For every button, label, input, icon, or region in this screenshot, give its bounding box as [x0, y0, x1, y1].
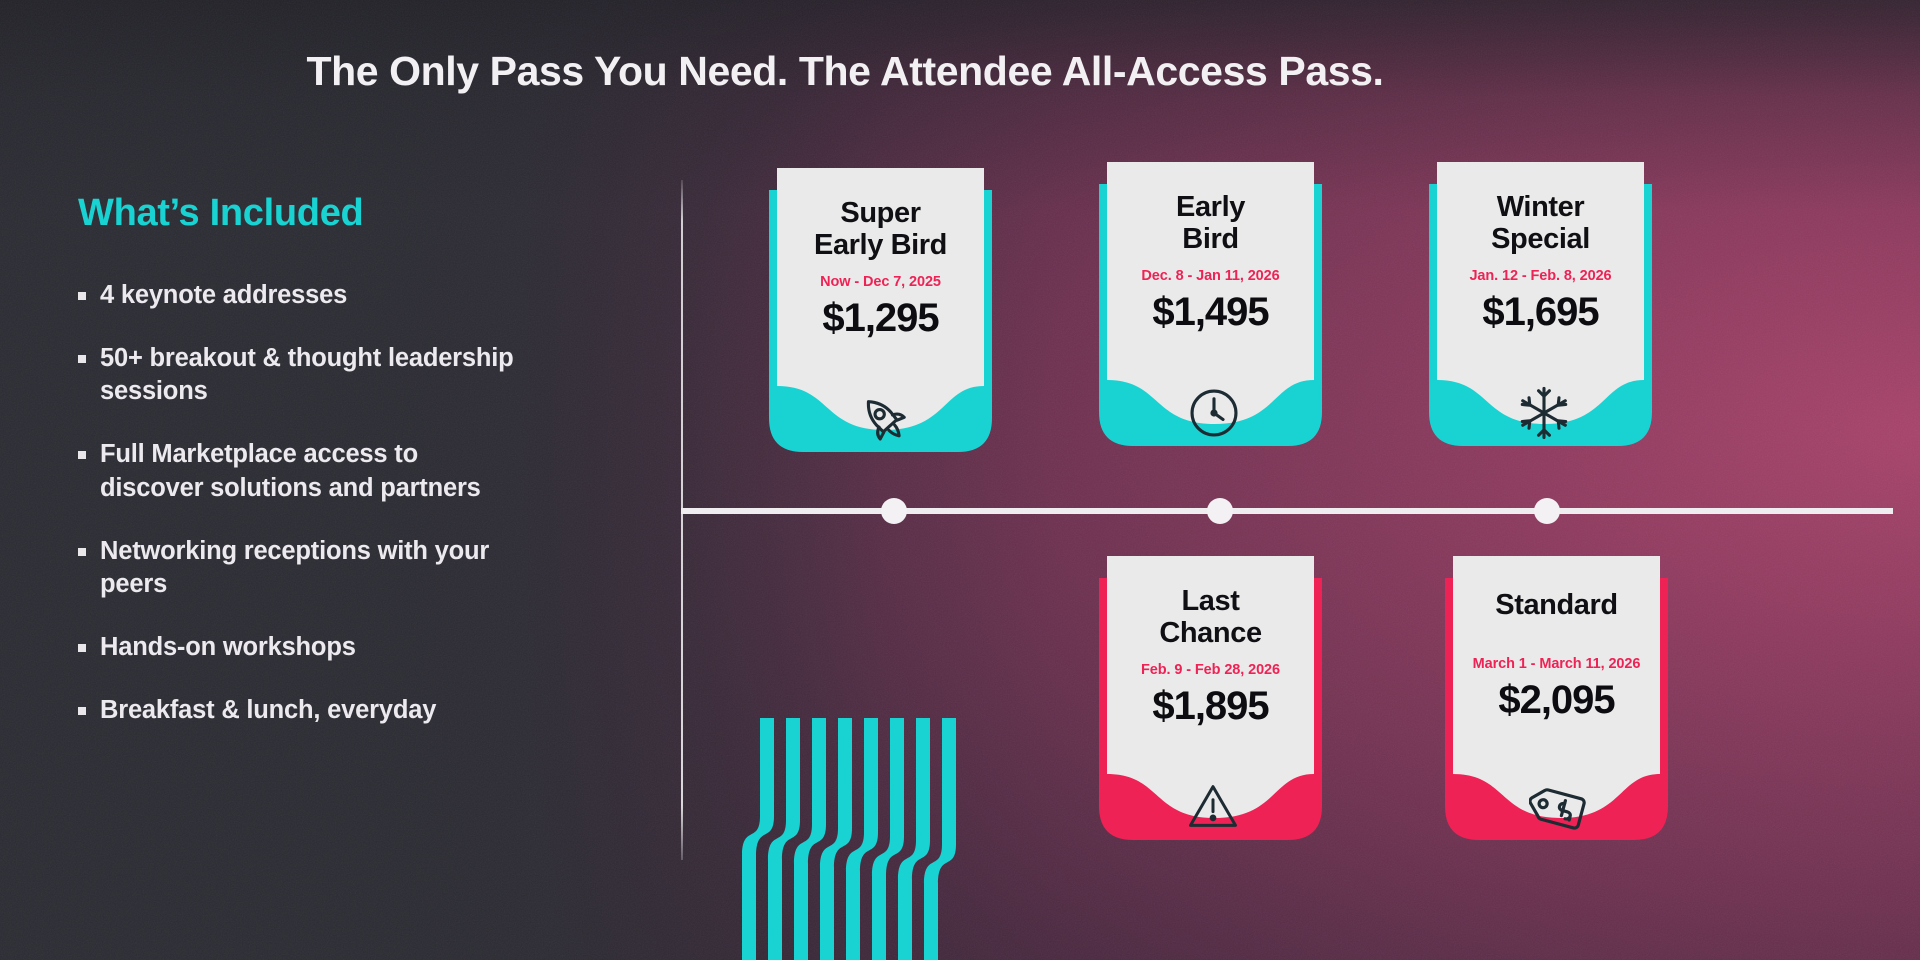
price-tag-icon [1529, 776, 1593, 845]
decorative-stripes [742, 718, 982, 960]
tier-dates: Feb. 9 - Feb 28, 2026 [1141, 662, 1280, 678]
feature-item: Breakfast & lunch, everyday [78, 694, 578, 727]
tier-price: $1,695 [1482, 290, 1598, 335]
bullet-icon [78, 707, 86, 715]
feature-list: 4 keynote addresses50+ breakout & though… [78, 279, 578, 727]
timeline-axis [681, 508, 1893, 514]
bullet-icon [78, 355, 86, 363]
pricing-card[interactable]: Winter SpecialJan. 12 - Feb. 8, 2026$1,6… [1429, 162, 1652, 445]
feature-label: Breakfast & lunch, everyday [100, 694, 436, 727]
bullet-icon [78, 548, 86, 556]
tier-dates: March 1 - March 11, 2026 [1473, 656, 1641, 672]
timeline-dot [1534, 498, 1560, 524]
tier-price: $1,895 [1152, 684, 1268, 729]
feature-label: 4 keynote addresses [100, 279, 347, 312]
feature-item: 4 keynote addresses [78, 279, 578, 312]
whats-included-panel: What’s Included 4 keynote addresses50+ b… [78, 192, 578, 757]
feature-label: 50+ breakout & thought leadership sessio… [100, 342, 520, 408]
tier-name: Last Chance [1159, 586, 1261, 650]
warning-triangle-icon [1183, 776, 1243, 841]
bullet-icon [78, 644, 86, 652]
pricing-card[interactable]: Early BirdDec. 8 - Jan 11, 2026$1,495 [1099, 162, 1322, 445]
pricing-card[interactable]: Super Early BirdNow - Dec 7, 2025$1,295 [769, 168, 992, 451]
feature-label: Hands-on workshops [100, 631, 356, 664]
feature-item: Networking receptions with your peers [78, 535, 578, 601]
tier-name: Super Early Bird [814, 198, 947, 262]
bullet-icon [78, 292, 86, 300]
rocket-icon [853, 388, 915, 455]
feature-item: Hands-on workshops [78, 631, 578, 664]
pricing-card[interactable]: StandardMarch 1 - March 11, 2026$2,095 [1445, 556, 1668, 839]
tier-dates: Now - Dec 7, 2025 [820, 274, 941, 290]
snowflake-icon [1513, 382, 1575, 449]
tier-name: Winter Special [1491, 192, 1590, 256]
tier-dates: Jan. 12 - Feb. 8, 2026 [1469, 268, 1611, 284]
tier-dates: Dec. 8 - Jan 11, 2026 [1141, 268, 1279, 284]
vertical-divider [681, 180, 683, 860]
tier-name: Standard [1495, 590, 1618, 622]
feature-item: 50+ breakout & thought leadership sessio… [78, 342, 578, 408]
pricing-card[interactable]: Last ChanceFeb. 9 - Feb 28, 2026$1,895 [1099, 556, 1322, 839]
tier-price: $2,095 [1498, 678, 1614, 723]
bullet-icon [78, 451, 86, 459]
tier-name: Early Bird [1176, 192, 1245, 256]
whats-included-heading: What’s Included [78, 192, 578, 235]
tier-price: $1,495 [1152, 290, 1268, 335]
card-panel: Winter SpecialJan. 12 - Feb. 8, 2026$1,6… [1437, 162, 1644, 374]
card-panel: StandardMarch 1 - March 11, 2026$2,095 [1453, 556, 1660, 768]
timeline-dot [1207, 498, 1233, 524]
feature-label: Networking receptions with your peers [100, 535, 520, 601]
feature-label: Full Marketplace access to discover solu… [100, 438, 520, 504]
card-panel: Last ChanceFeb. 9 - Feb 28, 2026$1,895 [1107, 556, 1314, 768]
feature-item: Full Marketplace access to discover solu… [78, 438, 578, 504]
tier-price: $1,295 [822, 296, 938, 341]
page-title: The Only Pass You Need. The Attendee All… [0, 48, 1690, 95]
timeline-dot [881, 498, 907, 524]
card-panel: Super Early BirdNow - Dec 7, 2025$1,295 [777, 168, 984, 380]
clock-icon [1183, 382, 1245, 449]
card-panel: Early BirdDec. 8 - Jan 11, 2026$1,495 [1107, 162, 1314, 374]
